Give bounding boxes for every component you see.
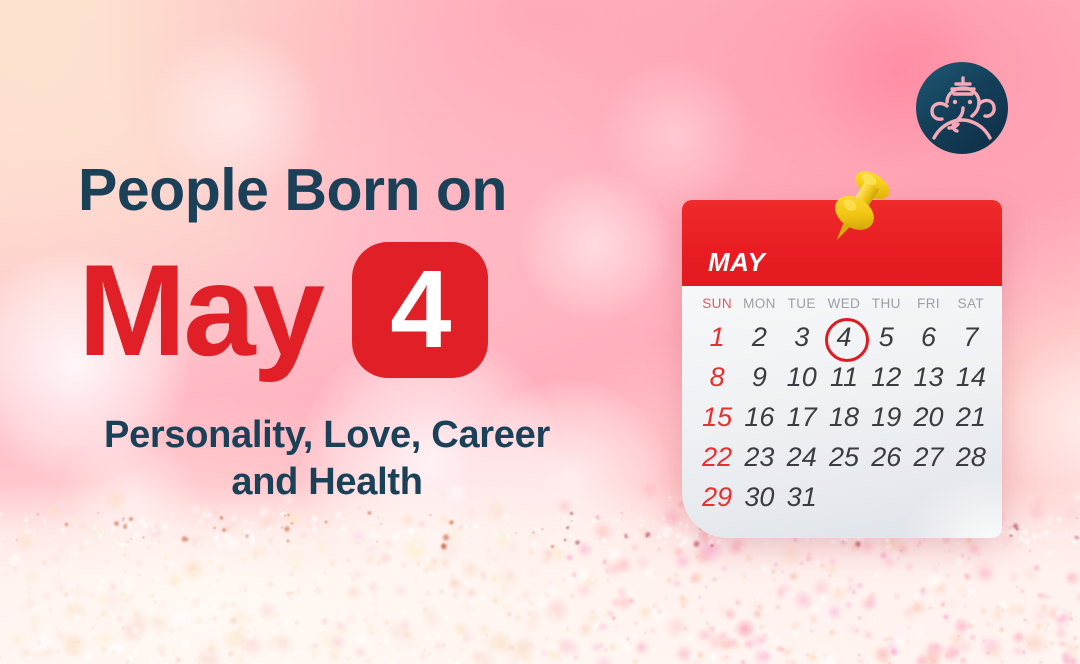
glitter-speck: [955, 541, 960, 546]
glitter-sparkle: [762, 567, 771, 576]
glitter-sparkle: [831, 586, 847, 602]
glitter-sparkle: [636, 642, 647, 653]
glitter-sparkle: [80, 525, 89, 534]
glitter-sparkle: [91, 625, 96, 630]
calendar-day[interactable]: 6: [907, 317, 949, 357]
glitter-speck: [150, 524, 154, 528]
glitter-sparkle: [711, 576, 718, 583]
glitter-sparkle: [50, 553, 62, 565]
glitter-sparkle: [437, 588, 446, 597]
glitter-speck: [515, 532, 517, 534]
glitter-speck: [132, 530, 142, 540]
glitter-sparkle: [476, 580, 482, 586]
glitter-sparkle: [793, 537, 798, 542]
glitter-sparkle: [257, 600, 278, 621]
glitter-sparkle: [979, 635, 1001, 657]
glitter-sparkle: [697, 595, 703, 601]
glitter-sparkle: [620, 585, 635, 600]
glitter-sparkle: [750, 632, 768, 650]
glitter-sparkle: [35, 639, 42, 646]
glitter-speck: [276, 525, 280, 529]
glitter-sparkle: [924, 570, 945, 591]
glitter-sparkle: [807, 652, 818, 663]
glitter-sparkle: [83, 521, 88, 526]
glitter-sparkle: [981, 638, 988, 645]
glitter-sparkle: [1004, 602, 1021, 619]
glitter-sparkle: [92, 641, 97, 646]
glitter-speck: [742, 541, 744, 543]
glitter-speck: [555, 543, 558, 546]
glitter-sparkle: [247, 601, 259, 613]
calendar-day[interactable]: 17: [781, 397, 823, 437]
glitter-sparkle: [276, 551, 280, 555]
glitter-sparkle: [29, 615, 40, 626]
glitter-sparkle: [734, 618, 756, 640]
glitter-speck: [311, 525, 318, 532]
glitter-speck: [879, 546, 882, 549]
glitter-sparkle: [1056, 623, 1067, 634]
glitter-sparkle: [861, 597, 876, 612]
calendar-day[interactable]: 18: [823, 397, 865, 437]
glitter-sparkle: [311, 641, 320, 650]
glitter-sparkle: [108, 582, 118, 592]
glitter-speck: [448, 519, 455, 526]
glitter-sparkle: [394, 584, 407, 597]
calendar-day[interactable]: 29: [696, 477, 738, 517]
glitter-sparkle: [437, 513, 452, 528]
glitter-sparkle: [462, 600, 475, 613]
glitter-sparkle: [520, 589, 532, 601]
glitter-sparkle: [713, 639, 722, 648]
glitter-speck: [42, 518, 47, 523]
glitter-sparkle: [447, 576, 462, 591]
glitter-speck: [557, 532, 560, 535]
glitter-sparkle: [762, 632, 769, 639]
glitter-sparkle: [438, 548, 449, 559]
glitter-sparkle: [54, 629, 68, 643]
subtitle-line-1: Personality, Love, Career: [78, 412, 576, 458]
glitter-sparkle: [309, 545, 315, 551]
ganesha-logo-icon[interactable]: [916, 62, 1008, 154]
glitter-sparkle: [120, 574, 135, 589]
glitter-sparkle: [881, 657, 889, 664]
glitter-sparkle: [275, 622, 280, 627]
calendar-day[interactable]: 16: [738, 397, 780, 437]
glitter-sparkle: [1011, 630, 1026, 645]
glitter-sparkle: [678, 594, 686, 602]
glitter-speck: [463, 542, 467, 546]
glitter-sparkle: [142, 522, 147, 527]
glitter-sparkle: [346, 558, 351, 563]
glitter-sparkle: [539, 647, 551, 659]
glitter-sparkle: [781, 646, 793, 658]
day-number: 4: [390, 255, 449, 365]
calendar-day[interactable]: 26: [865, 437, 907, 477]
glitter-sparkle: [74, 606, 86, 618]
glitter-sparkle: [478, 623, 490, 635]
glitter-sparkle: [206, 652, 222, 664]
glitter-sparkle: [230, 601, 237, 608]
glitter-speck: [569, 511, 574, 516]
glitter-sparkle: [23, 596, 37, 610]
glitter-sparkle: [71, 649, 81, 659]
glitter-sparkle: [507, 603, 512, 608]
glitter-sparkle: [578, 646, 589, 657]
glitter-speck: [220, 533, 223, 536]
glitter-sparkle: [243, 654, 253, 664]
calendar-day[interactable]: 7: [950, 317, 992, 357]
glitter-speck: [367, 510, 373, 516]
glitter-speck: [595, 544, 599, 548]
calendar-day[interactable]: 8: [696, 357, 738, 397]
glitter-speck: [1076, 529, 1078, 531]
glitter-speck: [82, 539, 90, 547]
glitter-sparkle: [70, 588, 74, 592]
glitter-sparkle: [224, 517, 240, 533]
glitter-sparkle: [704, 610, 709, 615]
glitter-sparkle: [651, 602, 660, 611]
glitter-sparkle: [634, 638, 649, 653]
glitter-speck: [345, 536, 347, 538]
glitter-speck: [54, 542, 57, 545]
glitter-sparkle: [290, 590, 296, 596]
glitter-speck: [663, 541, 667, 545]
glitter-speck: [31, 531, 36, 536]
glitter-speck: [116, 540, 122, 546]
glitter-speck: [678, 542, 684, 548]
glitter-sparkle: [1039, 603, 1049, 613]
glitter-sparkle: [328, 558, 338, 568]
glitter-speck: [448, 537, 451, 540]
glitter-sparkle: [244, 588, 248, 592]
calendar-day[interactable]: 31: [781, 477, 823, 517]
glitter-sparkle: [250, 549, 260, 559]
glitter-sparkle: [770, 634, 784, 648]
glitter-sparkle: [417, 518, 428, 529]
glitter-sparkle: [434, 634, 442, 642]
glitter-speck: [584, 535, 587, 538]
glitter-sparkle: [561, 577, 566, 582]
calendar-day[interactable]: 21: [950, 397, 992, 437]
glitter-speck: [142, 536, 145, 539]
glitter-sparkle: [854, 628, 860, 634]
glitter-speck: [1031, 532, 1038, 539]
glitter-sparkle: [1030, 604, 1052, 626]
glitter-speck: [313, 516, 318, 521]
glitter-sparkle: [1012, 645, 1024, 657]
glitter-sparkle: [1034, 576, 1038, 580]
glitter-sparkle: [166, 559, 176, 569]
glitter-speck: [86, 513, 88, 515]
glitter-sparkle: [632, 657, 637, 662]
glitter-sparkle: [939, 601, 946, 608]
glitter-speck: [440, 543, 448, 551]
glitter-sparkle: [719, 652, 731, 664]
glitter-speck: [644, 531, 652, 539]
glitter-sparkle: [927, 659, 931, 663]
glitter-sparkle: [718, 630, 730, 642]
glitter-sparkle: [501, 603, 509, 611]
calendar-day[interactable]: 20: [907, 397, 949, 437]
glitter-sparkle: [958, 656, 968, 664]
glitter-sparkle: [922, 538, 926, 542]
glitter-speck: [249, 517, 251, 519]
glitter-sparkle: [507, 644, 515, 652]
glitter-sparkle: [342, 629, 347, 634]
glitter-sparkle: [758, 624, 764, 630]
glitter-speck: [197, 517, 203, 523]
glitter-sparkle: [520, 599, 530, 609]
glitter-speck: [141, 521, 150, 530]
glitter-speck: [336, 529, 342, 535]
glitter-sparkle: [1046, 606, 1061, 621]
glitter-speck: [182, 528, 185, 531]
glitter-sparkle: [439, 557, 451, 569]
glitter-sparkle: [38, 552, 42, 556]
glitter-speck: [130, 538, 132, 540]
glitter-sparkle: [590, 618, 605, 633]
glitter-sparkle: [157, 540, 161, 544]
calendar-day[interactable]: 5: [865, 317, 907, 357]
glitter-sparkle: [990, 623, 995, 628]
month-name: May: [78, 245, 322, 375]
glitter-speck: [406, 536, 408, 538]
glitter-sparkle: [904, 561, 916, 573]
calendar-day[interactable]: 24: [781, 437, 823, 477]
glitter-sparkle: [586, 611, 600, 625]
glitter-sparkle: [336, 607, 355, 626]
glitter-sparkle: [555, 636, 578, 659]
glitter-speck: [715, 539, 722, 546]
glitter-speck: [621, 512, 623, 514]
calendar-day[interactable]: 3: [781, 317, 823, 357]
glitter-speck: [1049, 518, 1052, 521]
glitter-sparkle: [809, 628, 814, 633]
glitter-sparkle: [402, 624, 409, 631]
glitter-speck: [140, 541, 142, 543]
glitter-sparkle: [978, 566, 993, 581]
glitter-sparkle: [278, 539, 287, 548]
glitter-sparkle: [125, 655, 135, 664]
glitter-speck: [1042, 529, 1050, 537]
glitter-speck: [1, 536, 5, 540]
glitter-sparkle: [612, 617, 616, 621]
glitter-sparkle: [742, 574, 748, 580]
glitter-speck: [812, 540, 815, 543]
glitter-sparkle: [50, 573, 68, 591]
glitter-speck: [91, 524, 98, 531]
glitter-speck: [538, 531, 541, 534]
calendar-day[interactable]: 25: [823, 437, 865, 477]
glitter-speck: [334, 538, 338, 542]
glitter-sparkle: [116, 633, 120, 637]
glitter-sparkle: [774, 587, 788, 601]
glitter-sparkle: [704, 630, 727, 653]
glitter-speck: [563, 538, 567, 542]
glitter-speck: [294, 545, 296, 547]
glitter-speck: [492, 530, 500, 538]
glitter-speck: [122, 517, 125, 520]
glitter-sparkle: [78, 522, 87, 531]
glitter-sparkle: [422, 556, 431, 565]
glitter-sparkle: [1044, 645, 1048, 649]
glitter-sparkle: [15, 515, 35, 535]
glitter-speck: [623, 533, 630, 540]
calendar-day[interactable]: 9: [738, 357, 780, 397]
glitter-sparkle: [892, 632, 909, 649]
calendar-day[interactable]: 1: [696, 317, 738, 357]
glitter-sparkle: [153, 600, 158, 605]
glitter-speck: [1076, 517, 1078, 519]
glitter-sparkle: [701, 549, 707, 555]
glitter-sparkle: [203, 637, 222, 656]
calendar-day[interactable]: 14: [950, 357, 992, 397]
glitter-speck: [118, 541, 126, 549]
glitter-sparkle: [219, 601, 229, 611]
glitter-speck: [15, 539, 18, 542]
glitter-sparkle: [855, 544, 862, 551]
glitter-sparkle: [616, 586, 629, 599]
calendar-day[interactable]: 30: [738, 477, 780, 517]
glitter-sparkle: [172, 658, 181, 664]
glitter-sparkle: [285, 591, 292, 598]
glitter-speck: [590, 517, 598, 525]
glitter-sparkle: [207, 620, 221, 634]
glitter-sparkle: [912, 591, 922, 601]
glitter-sparkle: [424, 590, 431, 597]
glitter-speck: [565, 525, 570, 530]
glitter-sparkle: [720, 636, 736, 652]
glitter-speck: [0, 529, 1, 531]
glitter-sparkle: [336, 621, 346, 631]
glitter-sparkle: [602, 647, 609, 654]
calendar-day[interactable]: 15: [696, 397, 738, 437]
glitter-sparkle: [772, 578, 776, 582]
glitter-sparkle: [843, 547, 847, 551]
glitter-sparkle: [546, 647, 561, 662]
glitter-sparkle: [598, 642, 605, 649]
glitter-sparkle: [414, 577, 418, 581]
glitter-sparkle: [889, 647, 899, 657]
glitter-sparkle: [1021, 629, 1049, 657]
glitter-sparkle: [924, 651, 939, 664]
glitter-sparkle: [906, 625, 911, 630]
glitter-speck: [341, 534, 345, 538]
glitter-speck: [235, 540, 240, 545]
glitter-sparkle: [865, 591, 869, 595]
glitter-sparkle: [884, 630, 890, 636]
glitter-sparkle: [472, 647, 498, 664]
glitter-sparkle: [479, 594, 488, 603]
glitter-sparkle: [465, 508, 477, 520]
glitter-sparkle: [789, 620, 801, 632]
calendar-dow-sun: SUN: [696, 296, 738, 317]
glitter-sparkle: [756, 597, 761, 602]
glitter-sparkle: [113, 634, 118, 639]
glitter-sparkle: [406, 647, 418, 659]
glitter-sparkle: [228, 616, 239, 627]
glitter-sparkle: [132, 649, 140, 657]
glitter-sparkle: [288, 645, 296, 653]
glitter-speck: [1023, 537, 1025, 539]
glitter-sparkle: [102, 642, 115, 655]
calendar-day[interactable]: 2: [738, 317, 780, 357]
glitter-sparkle: [352, 629, 373, 650]
glitter-speck: [999, 543, 1003, 547]
calendar-day[interactable]: 27: [907, 437, 949, 477]
glitter-sparkle: [774, 603, 782, 611]
glitter-sparkle: [316, 628, 341, 653]
glitter-sparkle: [353, 645, 367, 659]
glitter-sparkle: [576, 541, 593, 558]
calendar-day[interactable]: 10: [781, 357, 823, 397]
glitter-sparkle: [986, 651, 990, 655]
glitter-speck: [634, 536, 638, 540]
glitter-speck: [374, 534, 377, 537]
glitter-sparkle: [1021, 650, 1026, 655]
glitter-sparkle: [580, 643, 585, 648]
page-title: People Born on: [78, 160, 638, 220]
glitter-sparkle: [542, 596, 571, 625]
glitter-sparkle: [527, 548, 536, 557]
glitter-sparkle: [16, 533, 34, 551]
glitter-sparkle: [493, 529, 513, 549]
glitter-sparkle: [844, 600, 854, 610]
calendar-day[interactable]: 23: [738, 437, 780, 477]
calendar-day[interactable]: 13: [907, 357, 949, 397]
glitter-sparkle: [101, 645, 107, 651]
glitter-sparkle: [634, 642, 650, 658]
glitter-sparkle: [491, 596, 501, 606]
glitter-speck: [286, 539, 290, 543]
glitter-sparkle: [119, 616, 147, 644]
glitter-sparkle: [495, 567, 519, 591]
glitter-sparkle: [315, 586, 320, 591]
glitter-speck: [616, 522, 618, 524]
glitter-sparkle: [23, 570, 41, 588]
glitter-sparkle: [59, 630, 87, 658]
glitter-sparkle: [1053, 612, 1068, 627]
calendar-day[interactable]: 11: [823, 357, 865, 397]
glitter-sparkle: [83, 651, 94, 662]
calendar-day[interactable]: 12: [865, 357, 907, 397]
calendar-day[interactable]: 19: [865, 397, 907, 437]
glitter-sparkle: [1015, 542, 1023, 550]
glitter-sparkle: [98, 607, 111, 620]
glitter-sparkle: [631, 657, 639, 664]
glitter-speck: [413, 541, 420, 548]
glitter-sparkle: [664, 576, 673, 585]
glitter-speck: [574, 539, 582, 547]
glitter-sparkle: [971, 558, 999, 586]
glitter-sparkle: [1070, 658, 1077, 664]
glitter-sparkle: [260, 592, 266, 598]
glitter-sparkle: [467, 595, 479, 607]
glitter-sparkle: [267, 580, 275, 588]
calendar-day[interactable]: 28: [950, 437, 992, 477]
glitter-sparkle: [668, 495, 673, 500]
calendar-body: SUN MON TUE WED THU FRI SAT 1 2 3 4 5 6 …: [682, 286, 1002, 538]
glitter-sparkle: [438, 536, 464, 562]
glitter-speck: [357, 538, 361, 542]
glitter-speck: [707, 538, 715, 546]
glitter-speck: [127, 541, 129, 543]
glitter-sparkle: [545, 581, 560, 596]
glitter-speck: [244, 528, 252, 536]
glitter-sparkle: [289, 597, 294, 602]
calendar-day-highlighted[interactable]: 4: [823, 317, 865, 357]
calendar-day[interactable]: 22: [696, 437, 738, 477]
